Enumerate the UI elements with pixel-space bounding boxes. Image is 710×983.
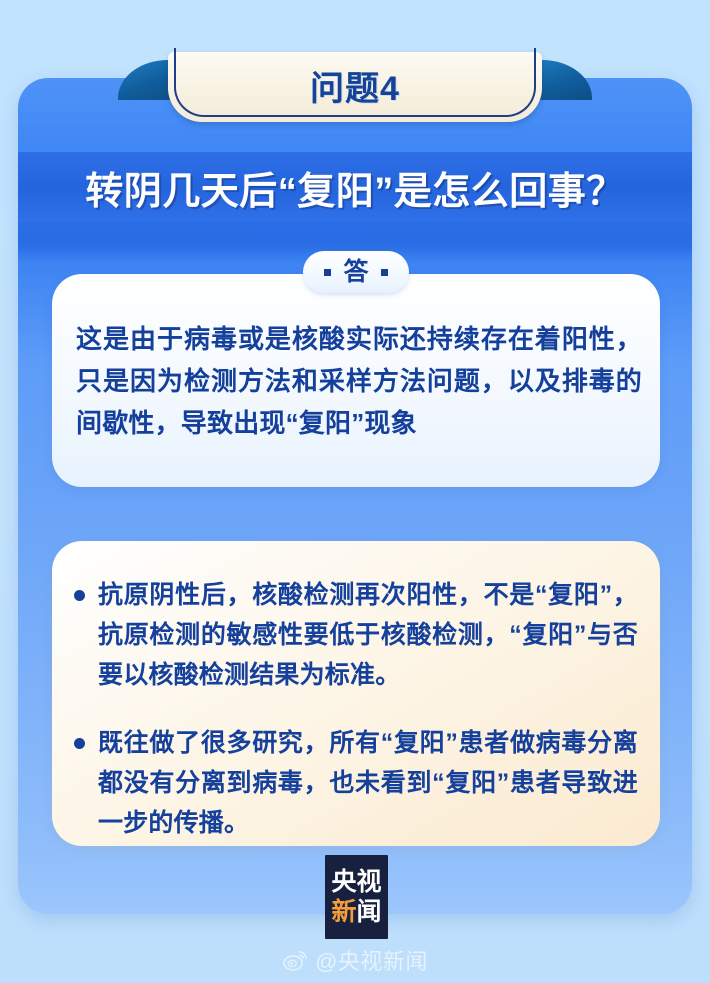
bullets-card: 抗原阴性后，核酸检测再次阳性，不是“复阳”，抗原检测的敏感性要低于核酸检测，“复… — [52, 541, 660, 846]
cctv-news-logo: 央视 新 闻 — [325, 855, 388, 939]
answer-badge: 答 — [303, 251, 409, 293]
bullet-text: 既往做了很多研究，所有“复阳”患者做病毒分离都没有分离到病毒，也未看到“复阳”患… — [98, 723, 638, 843]
badge-dot-left-icon — [324, 269, 331, 276]
list-item: 抗原阴性后，核酸检测再次阳性，不是“复阳”，抗原检测的敏感性要低于核酸检测，“复… — [74, 575, 638, 695]
logo-line-1: 央视 — [331, 867, 381, 897]
weibo-icon — [282, 949, 309, 972]
page-title: 转阴几天后“复阳”是怎么回事？ — [18, 152, 692, 222]
logo-char-wen: 闻 — [357, 897, 382, 927]
list-item: 既往做了很多研究，所有“复阳”患者做病毒分离都没有分离到病毒，也未看到“复阳”患… — [74, 723, 638, 843]
answer-card: 这是由于病毒或是核酸实际还持续存在着阳性，只是因为检测方法和采样方法问题，以及排… — [52, 274, 660, 487]
ribbon-header: 问题4 — [118, 52, 592, 122]
logo-char-xin: 新 — [331, 897, 356, 927]
logo-line-2: 新 闻 — [331, 897, 381, 927]
answer-badge-label: 答 — [343, 260, 368, 285]
watermark-text: @央视新闻 — [315, 944, 428, 976]
bullet-text: 抗原阴性后，核酸检测再次阳性，不是“复阳”，抗原检测的敏感性要低于核酸检测，“复… — [98, 575, 638, 695]
answer-text: 这是由于病毒或是核酸实际还持续存在着阳性，只是因为检测方法和采样方法问题，以及排… — [76, 318, 642, 444]
ribbon-body: 问题4 — [168, 52, 542, 122]
bullet-dot-icon — [74, 590, 85, 601]
ribbon-label: 问题4 — [168, 52, 542, 122]
weibo-watermark: @央视新闻 — [0, 944, 710, 976]
logo-char-yang: 央视 — [331, 867, 381, 897]
bullet-dot-icon — [74, 738, 85, 749]
badge-dot-right-icon — [381, 269, 388, 276]
